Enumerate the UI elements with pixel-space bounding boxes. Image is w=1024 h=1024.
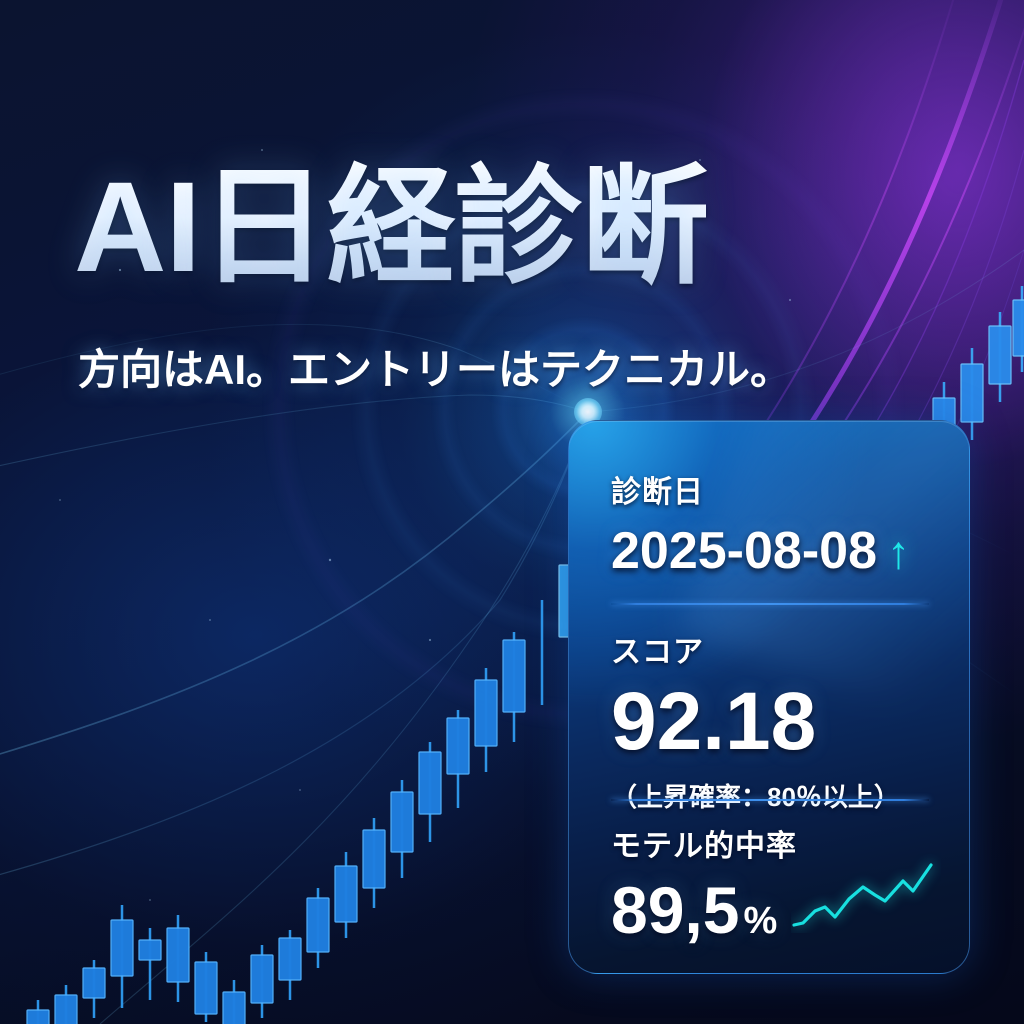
page-subtitle: 方向はAI。エントリーはテクニカル。 <box>78 336 792 397</box>
score-value: 92.18 <box>611 681 900 763</box>
diagnosis-date-value: 2025-08-08 <box>611 522 877 580</box>
diagnosis-summary-card: 診断日 2025-08-08↑ スコア 92.18 （上昇確率：80％以上） モ… <box>568 420 970 974</box>
accuracy-label: モテル的中率 <box>611 821 797 865</box>
accuracy-block: モテル的中率 89,5% <box>611 821 797 943</box>
accuracy-value-row: 89,5% <box>611 877 797 943</box>
card-divider-2 <box>611 799 929 801</box>
score-label: スコア <box>611 627 900 671</box>
diagnosis-date-block: 診断日 2025-08-08↑ <box>611 467 910 577</box>
score-block: スコア 92.18 （上昇確率：80％以上） <box>611 627 900 814</box>
page-title: AI日経診断 <box>74 160 874 296</box>
accuracy-value: 89,5 <box>611 873 739 947</box>
accuracy-unit: % <box>743 900 777 942</box>
trend-up-arrow-icon: ↑ <box>887 526 910 578</box>
diagnosis-date-value-row: 2025-08-08↑ <box>611 525 910 577</box>
accuracy-sparkline-chart <box>791 853 941 933</box>
score-note: （上昇確率：80％以上） <box>611 777 900 814</box>
poster-root: AI日経診断 方向はAI。エントリーはテクニカル。 診断日 2025-08-08… <box>0 0 1024 1024</box>
card-divider-1 <box>611 603 929 605</box>
diagnosis-date-label: 診断日 <box>611 467 910 511</box>
sparkline-path <box>794 865 931 925</box>
